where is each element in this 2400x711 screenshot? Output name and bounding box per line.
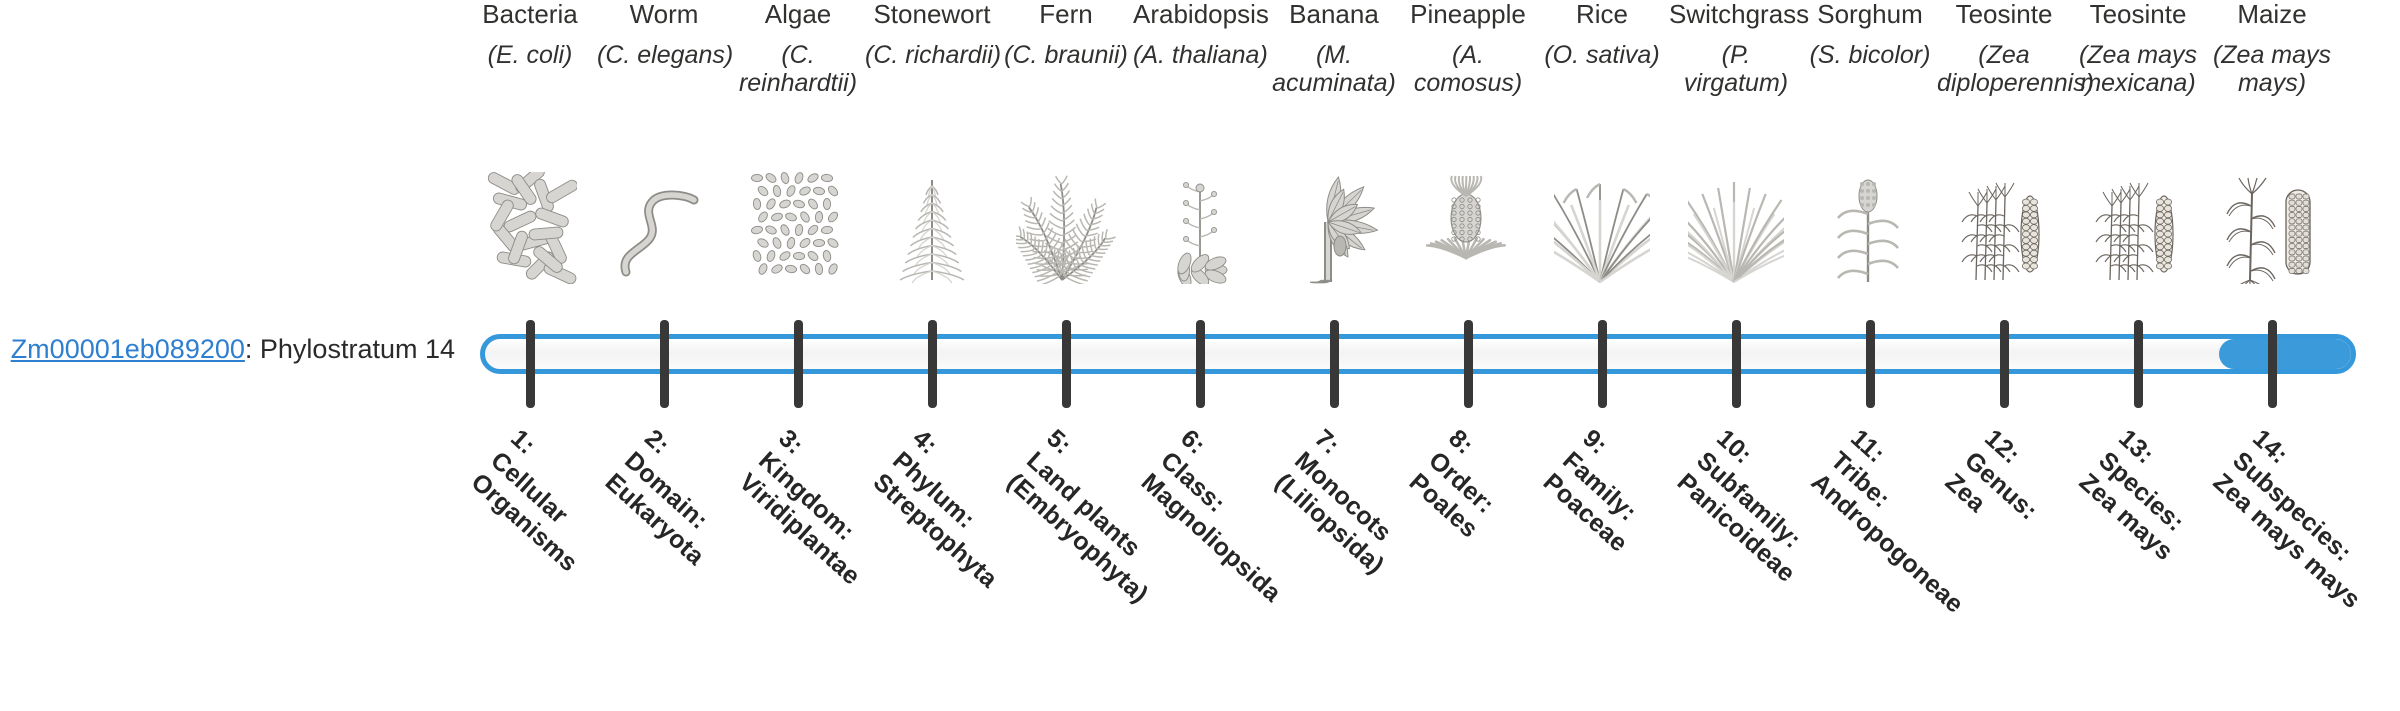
timeline-tick-4[interactable] — [928, 320, 937, 408]
switchgrass-illustration-icon — [1676, 172, 1796, 284]
worm-illustration-icon — [604, 172, 724, 284]
timeline-tick-5[interactable] — [1062, 320, 1071, 408]
phylostratigraphy-columns: Bacteria(E. coli)Worm(C. elegans) Algae(… — [480, 0, 2360, 580]
species-column-teosinte-13: Teosinte(Zea mays mexicana) — [2071, 0, 2205, 97]
pineapple-illustration-icon — [1408, 172, 1528, 284]
timeline-tick-13[interactable] — [2134, 320, 2143, 408]
timeline-tick-2[interactable] — [660, 320, 669, 408]
species-scientific-name: (E. coli) — [463, 41, 597, 69]
species-common-name: Sorghum — [1803, 0, 1937, 29]
species-scientific-name: (C. braunii) — [999, 41, 1133, 69]
species-common-name: Pineapple — [1401, 0, 1535, 29]
timeline-tick-8[interactable] — [1464, 320, 1473, 408]
species-column-stonewort-4: Stonewort(C. richardii) — [865, 0, 999, 69]
species-column-sorghum-11: Sorghum(S. bicolor) — [1803, 0, 1937, 69]
species-column-pineapple-8: Pineapple(A. comosus) — [1401, 0, 1535, 97]
rice-illustration-icon — [1542, 172, 1662, 284]
species-common-name: Teosinte — [1937, 0, 2071, 29]
phylostratum-value: Phylostratum 14 — [260, 334, 455, 364]
species-column-rice-9: Rice(O. sativa) — [1535, 0, 1669, 69]
species-scientific-name: (Zea mays mays) — [2205, 41, 2339, 97]
sorghum-illustration-icon — [1810, 172, 1930, 284]
banana-illustration-icon — [1274, 172, 1394, 284]
species-common-name: Arabidopsis — [1133, 0, 1267, 29]
species-common-name: Bacteria — [463, 0, 597, 29]
stonewort-illustration-icon — [872, 172, 992, 284]
species-column-worm-2: Worm(C. elegans) — [597, 0, 731, 69]
species-common-name: Teosinte — [2071, 0, 2205, 29]
bacteria-illustration-icon — [470, 172, 590, 284]
species-scientific-name: (P. virgatum) — [1669, 41, 1803, 97]
maize-illustration-icon — [2212, 172, 2332, 284]
species-common-name: Worm — [597, 0, 731, 29]
timeline-tick-7[interactable] — [1330, 320, 1339, 408]
timeline-tick-11[interactable] — [1866, 320, 1875, 408]
timeline-tick-10[interactable] — [1732, 320, 1741, 408]
gene-id-link[interactable]: Zm00001eb089200 — [11, 334, 245, 364]
species-scientific-name: (Zea mays mexicana) — [2071, 41, 2205, 97]
species-scientific-name: (Zea diploperennis) — [1937, 41, 2071, 97]
timeline-tick-3[interactable] — [794, 320, 803, 408]
gene-phylostratum-label: Zm00001eb089200: Phylostratum 14 — [0, 336, 455, 363]
species-scientific-name: (A. comosus) — [1401, 41, 1535, 97]
fern-illustration-icon — [1006, 172, 1126, 284]
species-column-arabidopsis-6: Arabidopsis(A. thaliana) — [1133, 0, 1267, 69]
species-column-bacteria-1: Bacteria(E. coli) — [463, 0, 597, 69]
timeline-tick-12[interactable] — [2000, 320, 2009, 408]
species-column-teosinte-12: Teosinte(Zea diploperennis) — [1937, 0, 2071, 97]
timeline-tick-9[interactable] — [1598, 320, 1607, 408]
species-column-algae-3: Algae(C. reinhardtii) — [731, 0, 865, 97]
species-scientific-name: (M. acuminata) — [1267, 41, 1401, 97]
species-column-maize-14: Maize(Zea mays mays) — [2205, 0, 2339, 97]
species-column-switchgrass-10: Switchgrass(P. virgatum) — [1669, 0, 1803, 97]
timeline-tick-14[interactable] — [2268, 320, 2277, 408]
species-common-name: Banana — [1267, 0, 1401, 29]
timeline-tick-1[interactable] — [526, 320, 535, 408]
teosinte-illustration-icon — [1944, 172, 2064, 284]
species-scientific-name: (C. elegans) — [597, 41, 731, 69]
algae-illustration-icon — [738, 172, 858, 284]
arabidopsis-illustration-icon — [1140, 172, 1260, 284]
species-scientific-name: (C. richardii) — [865, 41, 999, 69]
phylostratum-timeline[interactable] — [480, 334, 2356, 374]
species-common-name: Rice — [1535, 0, 1669, 29]
species-column-banana-7: Banana(M. acuminata) — [1267, 0, 1401, 97]
species-column-fern-5: Fern(C. braunii) — [999, 0, 1133, 69]
species-scientific-name: (S. bicolor) — [1803, 41, 1937, 69]
species-scientific-name: (O. sativa) — [1535, 41, 1669, 69]
teosinte-illustration-icon — [2078, 172, 2198, 284]
species-common-name: Stonewort — [865, 0, 999, 29]
species-common-name: Switchgrass — [1669, 0, 1803, 29]
gene-label-separator: : — [245, 334, 260, 364]
species-scientific-name: (C. reinhardtii) — [731, 41, 865, 97]
species-common-name: Algae — [731, 0, 865, 29]
species-scientific-name: (A. thaliana) — [1133, 41, 1267, 69]
timeline-track[interactable] — [480, 334, 2356, 374]
species-common-name: Fern — [999, 0, 1133, 29]
timeline-tick-6[interactable] — [1196, 320, 1205, 408]
species-common-name: Maize — [2205, 0, 2339, 29]
timeline-fill — [2219, 339, 2351, 369]
